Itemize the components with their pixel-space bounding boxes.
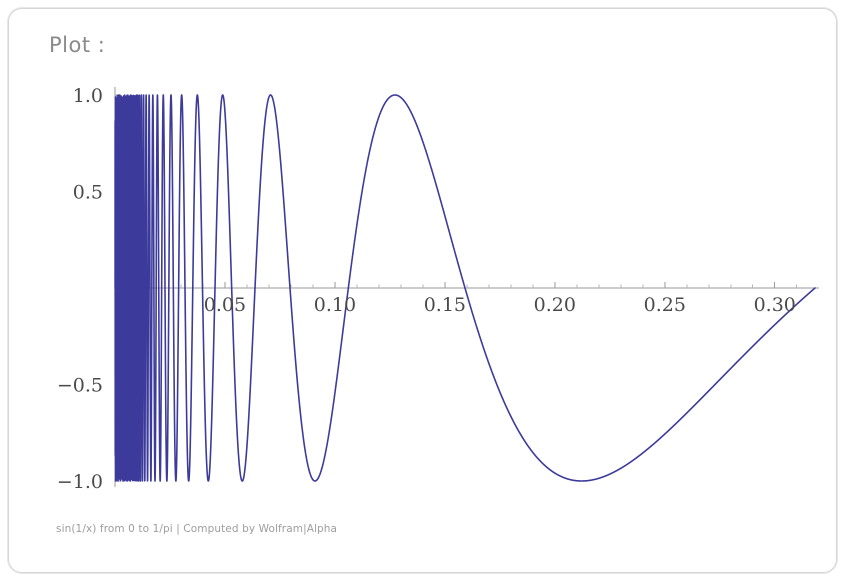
x-tick-label: 0.10 [314, 294, 356, 316]
plot-figure: 0.050.100.150.200.250.301.00.5−0.5−1.0 [33, 69, 823, 509]
axes-layer [115, 87, 819, 487]
plot-svg: 0.050.100.150.200.250.301.00.5−0.5−1.0 [33, 69, 823, 509]
plot-result-card: Plot : 0.050.100.150.200.250.301.00.5−0.… [8, 8, 837, 573]
card-inner: Plot : 0.050.100.150.200.250.301.00.5−0.… [9, 9, 836, 572]
y-tick-label: −0.5 [57, 375, 103, 397]
x-tick-label: 0.25 [644, 294, 686, 316]
y-tick-label: 0.5 [73, 182, 103, 204]
x-tick-label: 0.05 [204, 294, 246, 316]
x-tick-label: 0.15 [424, 294, 466, 316]
y-tick-label: −1.0 [57, 471, 103, 493]
x-tick-label: 0.30 [754, 294, 796, 316]
pod-footer-caption: sin(1/x) from 0 to 1/pi | Computed by Wo… [56, 523, 337, 535]
y-tick-label: 1.0 [73, 85, 103, 107]
page-title: Plot : [49, 33, 105, 57]
x-tick-label: 0.20 [534, 294, 576, 316]
